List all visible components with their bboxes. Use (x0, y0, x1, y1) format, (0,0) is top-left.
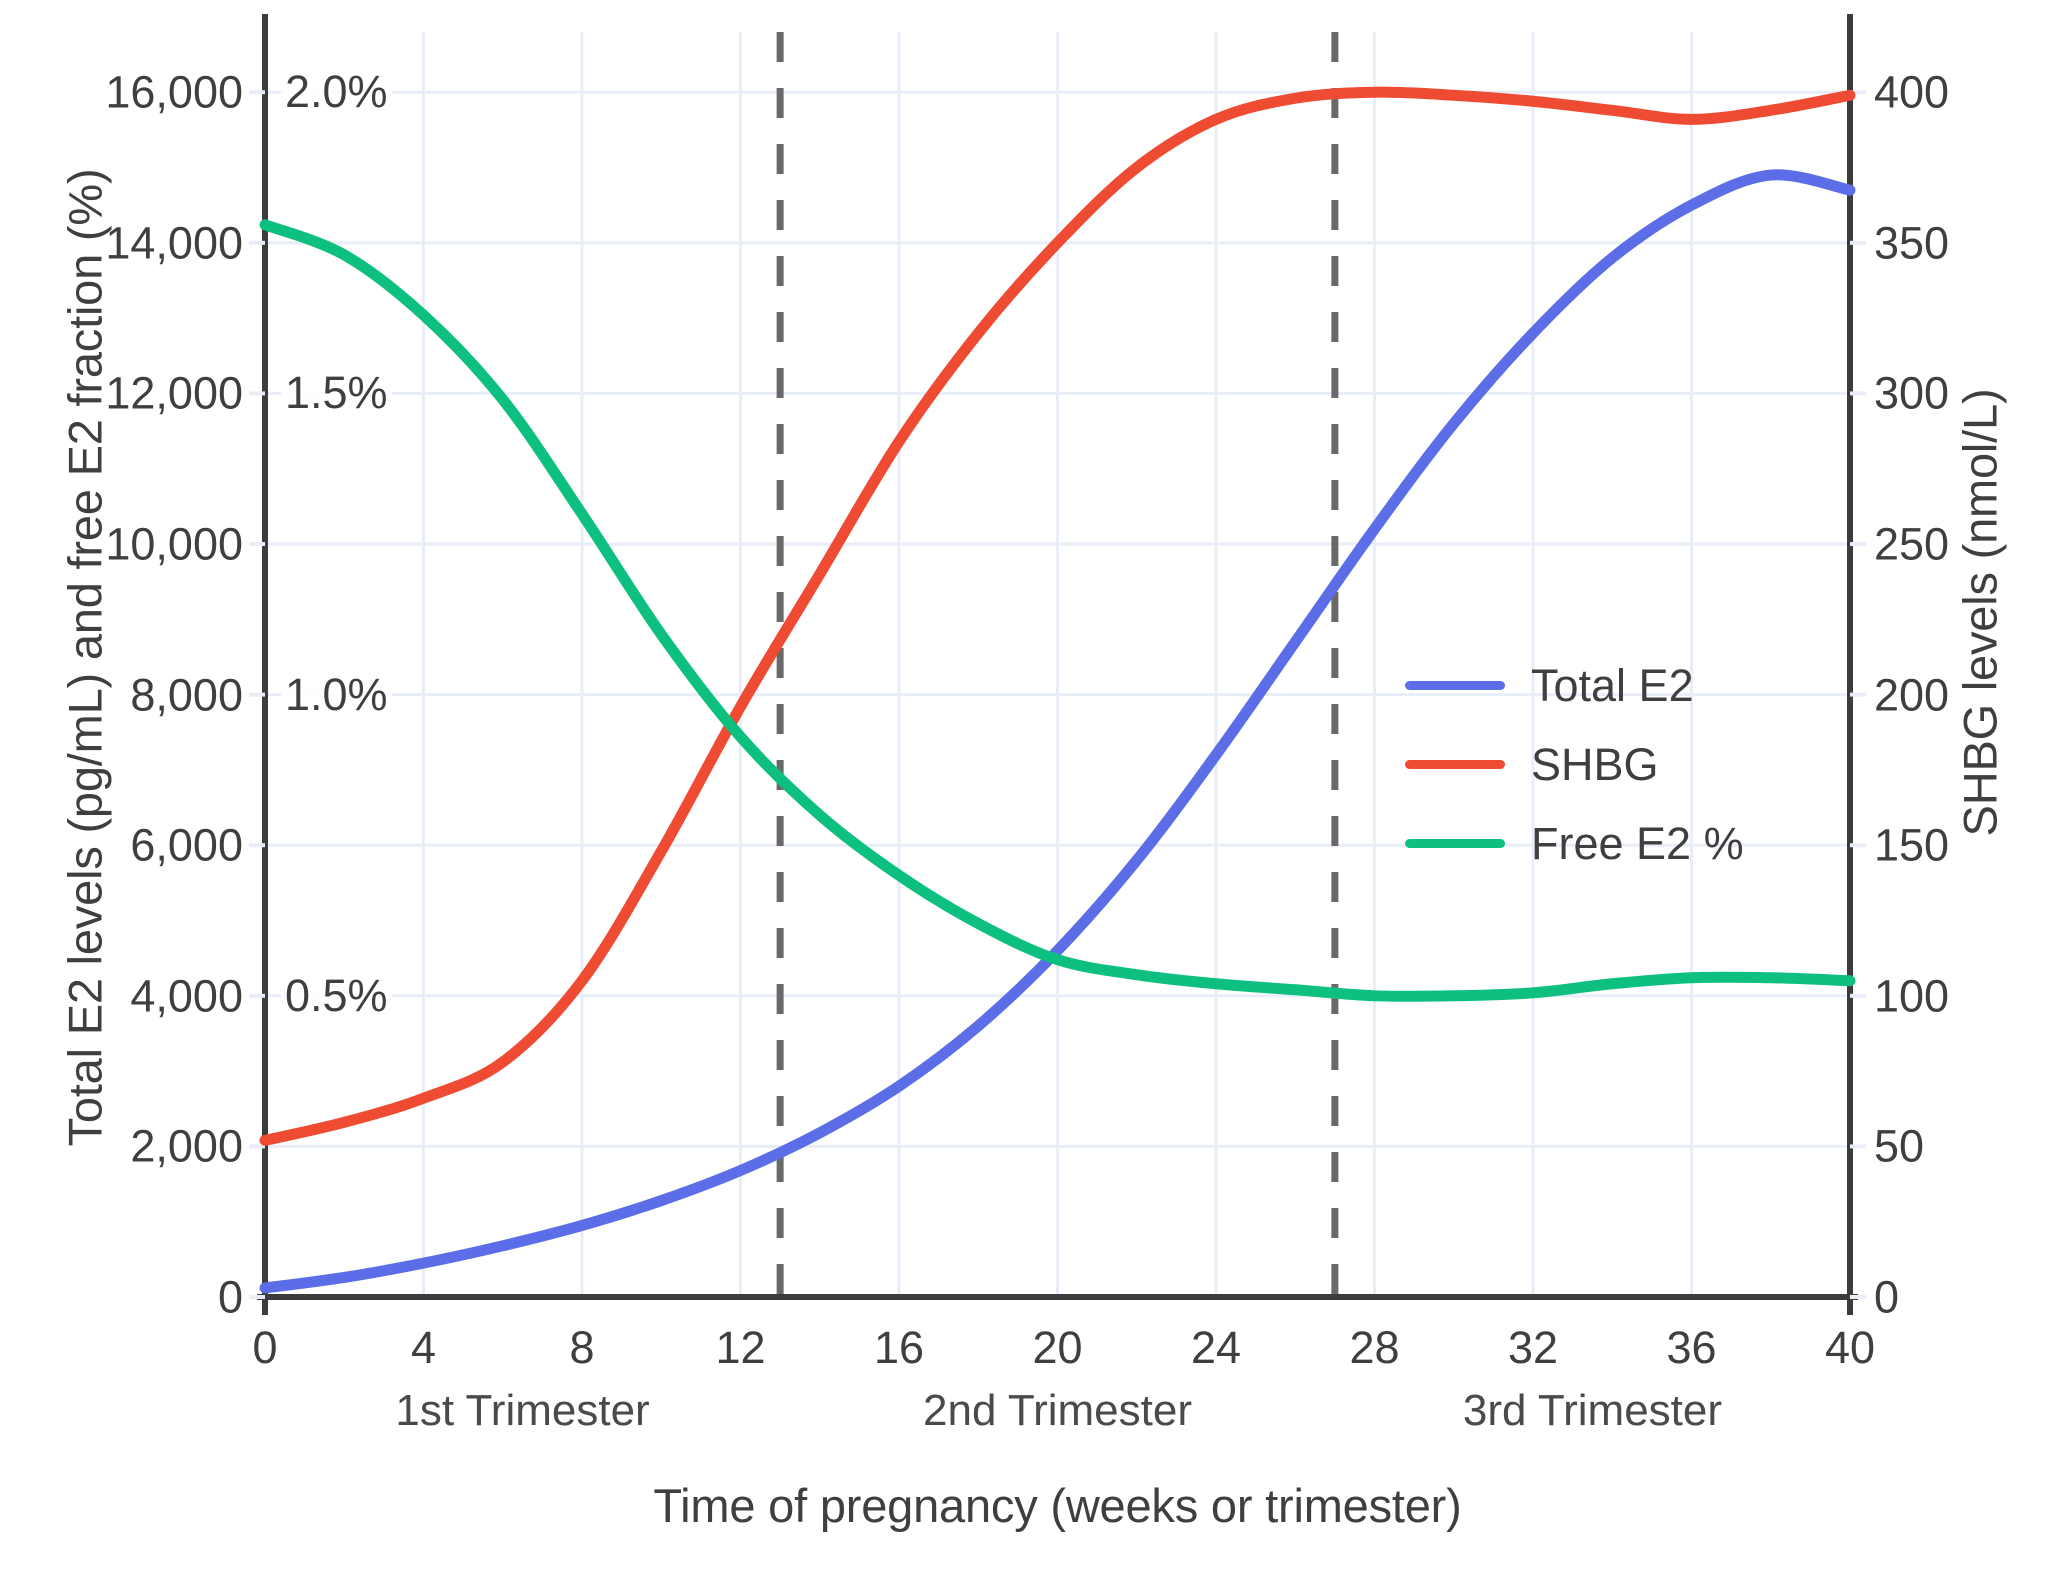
legend-swatch-icon (1405, 839, 1505, 848)
y-tick-right-250: 250 (1874, 522, 1949, 567)
x-tick-4: 4 (411, 1325, 436, 1370)
y-tick-right-300: 300 (1874, 371, 1949, 416)
y-tick-right-400: 400 (1874, 70, 1949, 115)
y-tick-left-6000: 6,000 (130, 823, 243, 868)
y-axis-left-title: Total E2 levels (pg/mL) and free E2 frac… (58, 58, 113, 1258)
x-tick-24: 24 (1191, 1325, 1241, 1370)
percent-label-1-5: 1.5% (281, 367, 392, 419)
y-axis-right-title: SHBG levels (nmol/L) (1953, 63, 2008, 1163)
x-tick-0: 0 (252, 1325, 277, 1370)
y-tick-right-100: 100 (1874, 973, 1949, 1018)
y-tick-right-0: 0 (1874, 1275, 1899, 1320)
x-tick-16: 16 (874, 1325, 924, 1370)
chart-figure: Total E2 levels (pg/mL) and free E2 frac… (0, 0, 2048, 1582)
y-tick-left-8000: 8,000 (130, 672, 243, 717)
legend-label: SHBG (1531, 742, 1659, 787)
trimester-label-3: 3rd Trimester (1463, 1386, 1722, 1436)
y-tick-right-150: 150 (1874, 823, 1949, 868)
y-tick-right-350: 350 (1874, 220, 1949, 265)
x-tick-8: 8 (569, 1325, 594, 1370)
y-tick-right-50: 50 (1874, 1124, 1924, 1169)
y-tick-left-4000: 4,000 (130, 973, 243, 1018)
legend-swatch-icon (1405, 760, 1505, 769)
legend-swatch-icon (1405, 681, 1505, 690)
legend-item-shbg[interactable]: SHBG (1405, 742, 1744, 787)
trimester-label-1: 1st Trimester (395, 1386, 649, 1436)
y-tick-left-0: 0 (218, 1275, 243, 1320)
x-tick-20: 20 (1032, 1325, 1082, 1370)
chart-legend: Total E2SHBGFree E2 % (1405, 663, 1744, 866)
legend-label: Total E2 (1531, 663, 1694, 708)
x-tick-36: 36 (1666, 1325, 1716, 1370)
x-tick-40: 40 (1825, 1325, 1875, 1370)
x-tick-12: 12 (715, 1325, 765, 1370)
percent-label-0-5: 0.5% (281, 970, 392, 1022)
x-tick-32: 32 (1508, 1325, 1558, 1370)
x-tick-28: 28 (1349, 1325, 1399, 1370)
legend-item-free-e2[interactable]: Free E2 % (1405, 821, 1744, 866)
y-tick-right-200: 200 (1874, 672, 1949, 717)
trimester-label-2: 2nd Trimester (923, 1386, 1192, 1436)
y-tick-left-14000: 14,000 (105, 220, 243, 265)
y-tick-left-12000: 12,000 (105, 371, 243, 416)
y-tick-left-16000: 16,000 (105, 70, 243, 115)
percent-label-1: 1.0% (281, 669, 392, 721)
x-axis-title: Time of pregnancy (weeks or trimester) (265, 1478, 1850, 1533)
y-tick-left-10000: 10,000 (105, 522, 243, 567)
y-tick-left-2000: 2,000 (130, 1124, 243, 1169)
percent-label-2: 2.0% (281, 66, 392, 118)
legend-label: Free E2 % (1531, 821, 1744, 866)
legend-item-total-e2[interactable]: Total E2 (1405, 663, 1744, 708)
